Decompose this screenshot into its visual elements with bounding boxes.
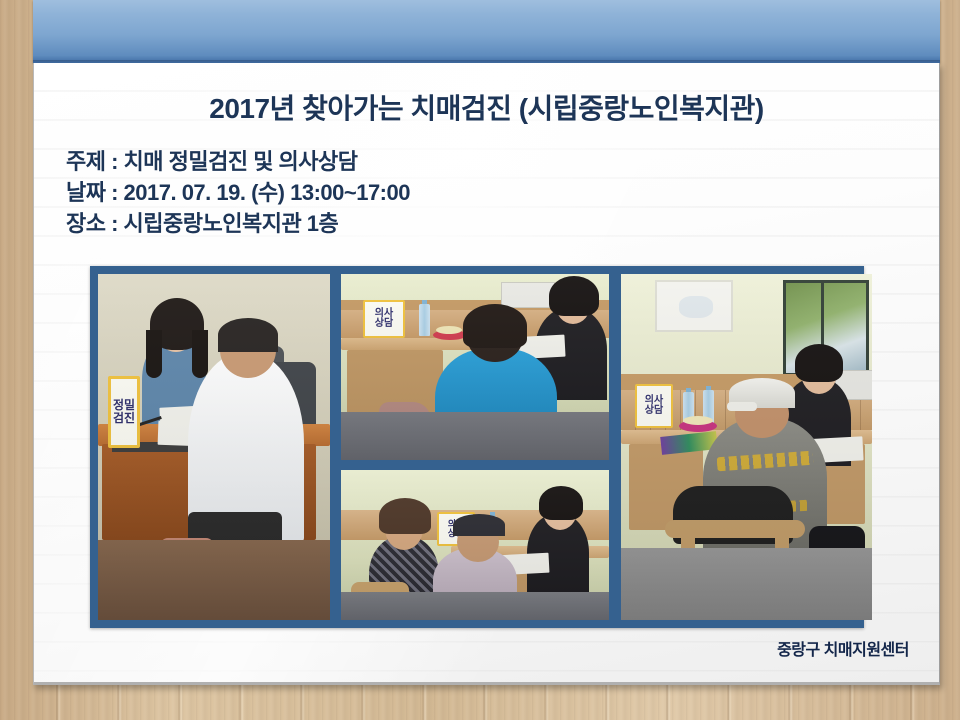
detail-subject: 주제 : 치매 정밀검진 및 의사상담: [66, 146, 410, 177]
photo-collage-frame: 정밀 검진: [90, 266, 864, 628]
header-blue-band: [33, 0, 940, 63]
event-details: 주제 : 치매 정밀검진 및 의사상담 날짜 : 2017. 07. 19. (…: [66, 146, 410, 239]
footer-organization: 중랑구 치매지원센터: [777, 636, 909, 660]
slide-paper: 2017년 찾아가는 치매검진 (시립중랑노인복지관) 주제 : 치매 정밀검진…: [33, 63, 940, 685]
photo-doctor-consult-blue-shirt: 의사 상담: [341, 274, 609, 460]
detail-place: 장소 : 시립중랑노인복지관 1층: [66, 208, 410, 239]
photo-doctor-consult-cap: 의사 상담: [621, 274, 872, 620]
photo-screening-desk: 정밀 검진: [98, 274, 330, 620]
slide-canvas: 2017년 찾아가는 치매검진 (시립중랑노인복지관) 주제 : 치매 정밀검진…: [0, 0, 960, 720]
photo-doctor-consult-two-elders: 의사 상담: [341, 470, 609, 620]
detail-date: 날짜 : 2017. 07. 19. (수) 13:00~17:00: [66, 177, 410, 208]
page-title: 2017년 찾아가는 치매검진 (시립중랑노인복지관): [34, 87, 939, 127]
